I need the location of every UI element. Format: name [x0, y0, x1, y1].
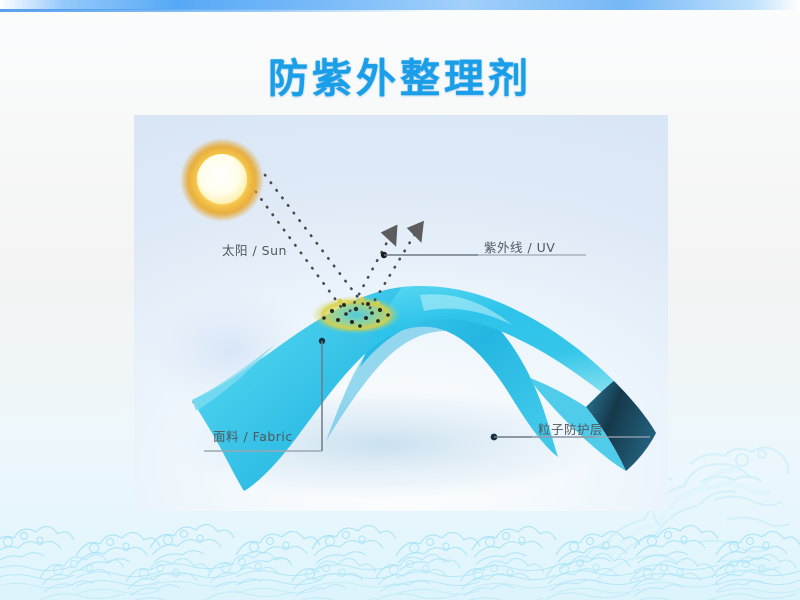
label-sun: 太阳 / Sun — [222, 240, 287, 259]
label-fabric: 面料 / Fabric — [213, 426, 293, 445]
slide-canvas: 防紫外整理剂 — [0, 0, 800, 600]
uv-protection-diagram: 太阳 / Sun 紫外线 / UV 面料 / Fabric 粒子防护层 — [134, 115, 668, 511]
top-accent-stripe-secondary — [0, 9, 430, 12]
slide-title: 防紫外整理剂 — [0, 46, 800, 104]
label-particle-layer: 粒子防护层 — [538, 419, 603, 438]
label-uv: 紫外线 / UV — [484, 237, 555, 256]
